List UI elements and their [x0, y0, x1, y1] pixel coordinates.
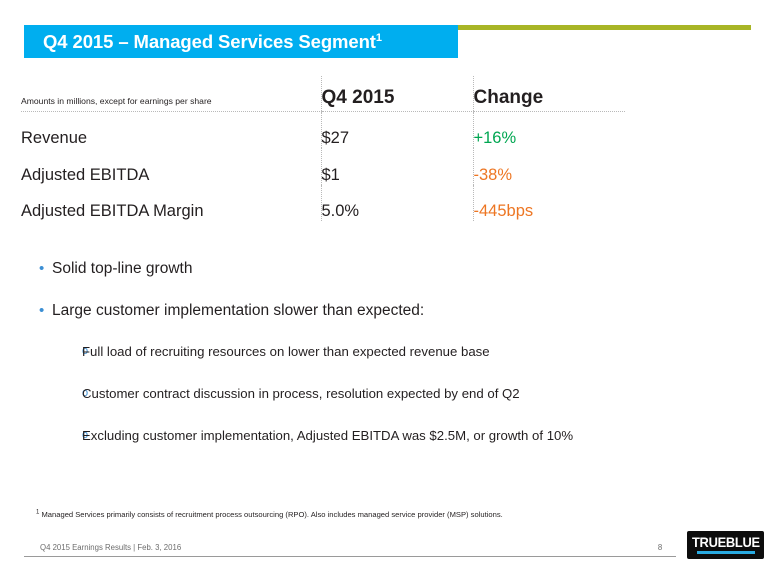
sub-bullet-marker-icon: o: [24, 384, 82, 403]
page-title: Q4 2015 – Managed Services Segment1: [24, 31, 382, 53]
amounts-note-cell: Amounts in millions, except for earnings…: [21, 76, 321, 111]
sub-bullet-list: o Full load of recruiting resources on l…: [24, 342, 724, 445]
row-label-adjusted-ebitda-margin: Adjusted EBITDA Margin: [21, 185, 321, 221]
slide-title-bar: Q4 2015 – Managed Services Segment1: [24, 25, 458, 58]
list-item: o Full load of recruiting resources on l…: [24, 342, 724, 361]
row-change-adjusted-ebitda-margin: -445bps: [473, 185, 625, 221]
sub-bullet-text-full-load: Full load of recruiting resources on low…: [82, 342, 490, 361]
amounts-note: Amounts in millions, except for earnings…: [21, 96, 321, 109]
row-value-revenue: $27: [321, 111, 473, 148]
row-change-adjusted-ebitda: -38%: [473, 148, 625, 185]
row-change-revenue: +16%: [473, 111, 625, 148]
bullet-text-solid-top-line-growth: Solid top-line growth: [52, 258, 192, 279]
column-header-change: Change: [473, 76, 625, 111]
trueblue-logo: TRUEBLUE: [687, 531, 764, 559]
sub-bullet-text-customer-contract: Customer contract discussion in process,…: [82, 384, 520, 403]
sub-bullet-marker-icon: o: [24, 426, 82, 445]
row-value-adjusted-ebitda-margin: 5.0%: [321, 185, 473, 221]
table-row: Adjusted EBITDA $1 -38%: [21, 148, 625, 185]
footnote: 1 Managed Services primarily consists of…: [36, 510, 503, 519]
footnote-marker: 1: [36, 509, 39, 515]
page-title-footnote-marker: 1: [376, 31, 382, 43]
page-title-text: Q4 2015 – Managed Services Segment: [43, 31, 376, 52]
bullet-text-large-customer-implementation: Large customer implementation slower tha…: [52, 300, 424, 321]
column-header-q4-2015: Q4 2015: [321, 76, 473, 111]
bullet-list: • Solid top-line growth • Large customer…: [24, 258, 724, 468]
footer-divider: [24, 556, 676, 557]
logo-accent-bar: [697, 551, 755, 554]
row-label-revenue: Revenue: [21, 111, 321, 148]
metrics-table-element: Amounts in millions, except for earnings…: [21, 76, 625, 221]
row-label-adjusted-ebitda: Adjusted EBITDA: [21, 148, 321, 185]
footer-caption: Q4 2015 Earnings Results | Feb. 3, 2016: [40, 543, 181, 552]
page-number: 8: [650, 543, 670, 552]
slide: Q4 2015 – Managed Services Segment1 Amou…: [0, 0, 775, 581]
sub-bullet-marker-icon: o: [24, 342, 82, 361]
list-item: • Large customer implementation slower t…: [24, 300, 724, 321]
metrics-table: Amounts in millions, except for earnings…: [21, 76, 625, 221]
footnote-text: Managed Services primarily consists of r…: [41, 510, 502, 519]
row-value-adjusted-ebitda: $1: [321, 148, 473, 185]
table-row: Revenue $27 +16%: [21, 111, 625, 148]
table-header-row: Amounts in millions, except for earnings…: [21, 76, 625, 111]
list-item: o Customer contract discussion in proces…: [24, 384, 724, 403]
list-item: • Solid top-line growth: [24, 258, 724, 279]
bullet-marker-icon: •: [24, 258, 52, 279]
table-row: Adjusted EBITDA Margin 5.0% -445bps: [21, 185, 625, 221]
list-item: o Excluding customer implementation, Adj…: [24, 426, 724, 445]
sub-bullet-text-excluding-customer-implementation: Excluding customer implementation, Adjus…: [82, 426, 573, 445]
logo-wordmark: TRUEBLUE: [692, 535, 760, 549]
bullet-marker-icon: •: [24, 300, 52, 321]
